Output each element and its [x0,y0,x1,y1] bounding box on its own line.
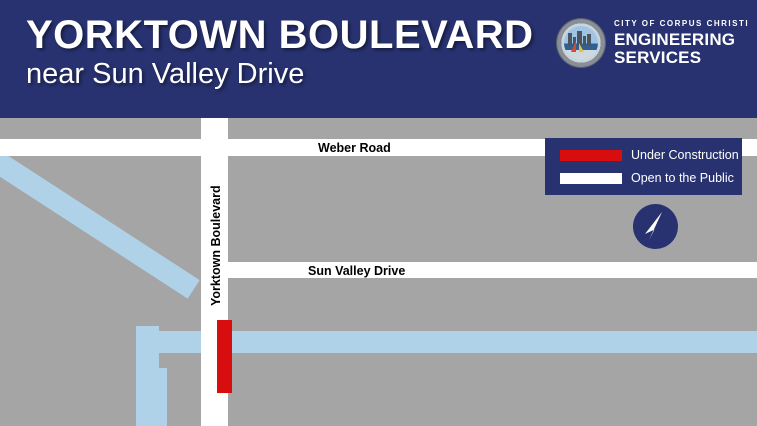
map-canvas[interactable]: Weber Road Sun Valley Drive Yorktown Bou… [0,118,757,426]
label-yorktown-boulevard: Yorktown Boulevard [209,185,223,306]
waterway-creek-diagonal [0,144,200,299]
construction-segment-yorktown[interactable] [217,320,232,393]
seal-building-icon [587,34,591,46]
label-sun-valley-drive: Sun Valley Drive [308,264,405,278]
seal-sailboat-icon [571,41,576,52]
city-seal-icon [557,19,605,67]
north-arrow-icon [633,204,678,249]
header-banner: YORKTOWN BOULEVARD near Sun Valley Drive… [0,0,757,118]
logo-line-engineering: ENGINEERING [614,31,749,49]
title-block: YORKTOWN BOULEVARD near Sun Valley Drive [26,14,534,91]
legend-swatch-red [560,150,622,161]
legend-item-under-construction: Under Construction [560,148,739,162]
agency-logo: CITY OF CORPUS CHRISTI ENGINEERING SERVI… [557,19,749,67]
legend-box: Under Construction Open to the Public [545,138,742,195]
page-title: YORKTOWN BOULEVARD [26,14,534,56]
logo-text: CITY OF CORPUS CHRISTI ENGINEERING SERVI… [614,20,749,67]
logo-line-services: SERVICES [614,49,749,67]
map-graphic-page: YORKTOWN BOULEVARD near Sun Valley Drive… [0,0,757,426]
waterway-creek-branch-south-lower [144,368,167,426]
page-subtitle: near Sun Valley Drive [26,58,534,91]
legend-swatch-white [560,173,622,184]
street-sun-valley-drive[interactable] [201,262,757,278]
city-seal-inner-icon [564,26,598,60]
label-weber-road: Weber Road [318,141,391,155]
seal-sailboat-icon [579,43,584,52]
legend-label-under-construction: Under Construction [631,148,739,162]
legend-label-open-to-public: Open to the Public [631,171,734,185]
logo-line-city: CITY OF CORPUS CHRISTI [614,20,749,28]
legend-item-open-to-public: Open to the Public [560,171,734,185]
